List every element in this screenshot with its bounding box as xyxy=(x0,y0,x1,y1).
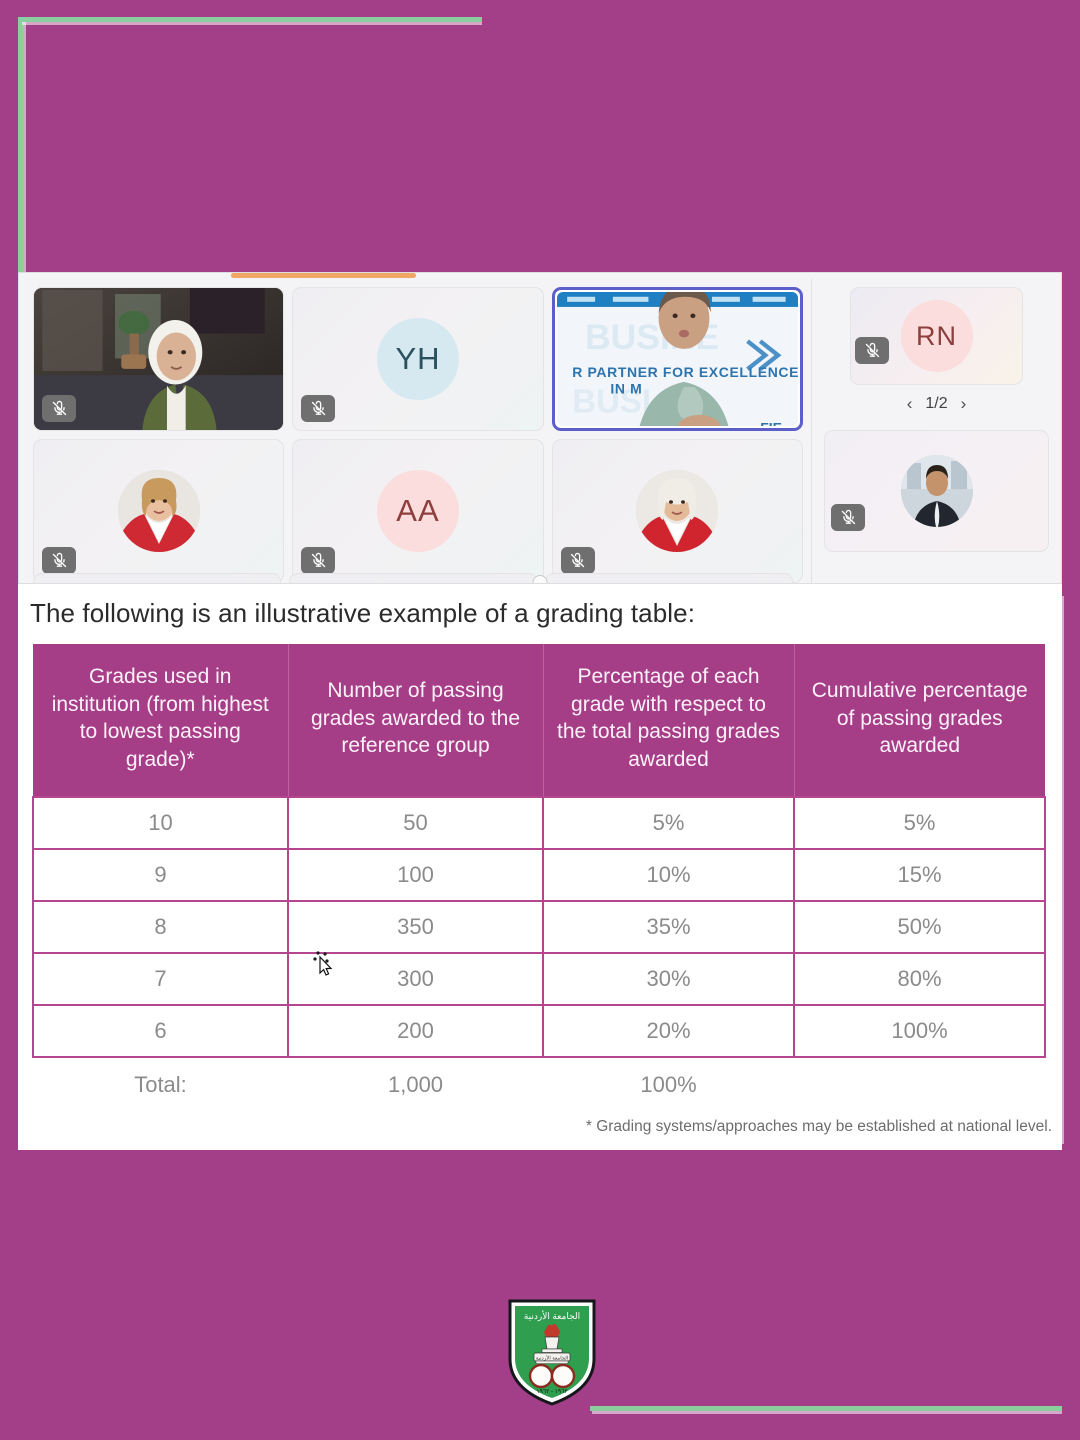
table-row: 7 300 30% 80% xyxy=(33,953,1045,1005)
cell-percentage: 30% xyxy=(543,953,794,1005)
video-conference-panel[interactable]: YH xyxy=(18,272,1062,584)
panel-resize-handle[interactable] xyxy=(533,575,548,584)
participant-tile-partial-3[interactable] xyxy=(545,573,793,584)
participant-grid: YH xyxy=(19,279,809,584)
grading-table: Grades used in institution (from highest… xyxy=(32,644,1046,1110)
cell-grade: 6 xyxy=(33,1005,288,1057)
table-row: 10 50 5% 5% xyxy=(33,797,1045,849)
chevron-right-icon[interactable]: › xyxy=(961,394,967,414)
cell-percentage: 10% xyxy=(543,849,794,901)
cell-cumulative: 80% xyxy=(794,953,1045,1005)
mic-muted-icon[interactable] xyxy=(561,547,595,574)
participant-tile-partial-1[interactable] xyxy=(33,573,281,584)
table-total-row: Total: 1,000 100% xyxy=(33,1057,1045,1110)
table-row: 6 200 20% 100% xyxy=(33,1005,1045,1057)
svg-text:IN M: IN M xyxy=(610,380,642,396)
document-footnote: * Grading systems/approaches may be esta… xyxy=(586,1118,1052,1136)
participant-tile-1[interactable] xyxy=(33,287,284,431)
mic-muted-icon[interactable] xyxy=(301,547,335,574)
cell-grade: 7 xyxy=(33,953,288,1005)
table-row: 9 100 10% 15% xyxy=(33,849,1045,901)
svg-text:الجامعة الأردنية: الجامعة الأردنية xyxy=(524,1310,580,1322)
participant-tile-4[interactable] xyxy=(33,439,284,583)
cell-cumulative: 5% xyxy=(794,797,1045,849)
cell-grade: 8 xyxy=(33,901,288,953)
participant-tile-6[interactable] xyxy=(552,439,803,583)
cell-grade: 10 xyxy=(33,797,288,849)
mic-muted-icon[interactable] xyxy=(42,395,76,422)
cell-percentage: 20% xyxy=(543,1005,794,1057)
cell-grade: 9 xyxy=(33,849,288,901)
participant-pagination[interactable]: ‹ 1/2 › xyxy=(824,394,1049,414)
participant-tile-3[interactable]: BUSINE BUSI R PARTNER FOR EXCELLENCE IN … xyxy=(552,287,803,431)
cell-cumulative: 15% xyxy=(794,849,1045,901)
participant-row-partial xyxy=(33,573,793,584)
cell-count: 200 xyxy=(288,1005,543,1057)
avatar: AA xyxy=(377,470,459,552)
chevron-left-icon[interactable]: ‹ xyxy=(907,394,913,414)
column-header-count: Number of passing grades awarded to the … xyxy=(288,644,543,797)
side-participant-tile-rn[interactable]: RN xyxy=(850,287,1023,385)
cell-cumulative: 100% xyxy=(794,1005,1045,1057)
svg-text:الجامعة الأردنية: الجامعة الأردنية xyxy=(536,1354,568,1362)
cell-cumulative: 50% xyxy=(794,901,1045,953)
svg-text:١٩٦٢ - ١٩٦٢: ١٩٦٢ - ١٩٦٢ xyxy=(536,1389,567,1395)
cell-count: 350 xyxy=(288,901,543,953)
cell-count: 100 xyxy=(288,849,543,901)
active-speaker-strip xyxy=(231,273,416,278)
cell-percentage: 5% xyxy=(543,797,794,849)
total-blank xyxy=(794,1057,1045,1110)
mic-muted-icon[interactable] xyxy=(831,504,865,531)
cell-count: 300 xyxy=(288,953,543,1005)
university-of-jordan-logo: الجامعة الأردنية الجامعة الأردنية ١٩٦٢ -… xyxy=(506,1297,598,1407)
avatar xyxy=(636,470,718,552)
mic-muted-icon[interactable] xyxy=(42,547,76,574)
column-header-grades: Grades used in institution (from highest… xyxy=(33,644,288,797)
frame-shadow-bottom xyxy=(592,1411,1062,1414)
total-count: 1,000 xyxy=(288,1057,543,1110)
total-percentage: 100% xyxy=(543,1057,794,1110)
column-header-cumulative: Cumulative percentage of passing grades … xyxy=(794,644,1045,797)
frame-shadow-top xyxy=(22,22,482,25)
page-indicator: 1/2 xyxy=(925,395,947,413)
table-row: 8 350 35% 50% xyxy=(33,901,1045,953)
avatar xyxy=(118,470,200,552)
mic-muted-icon[interactable] xyxy=(855,337,889,364)
document-heading: The following is an illustrative example… xyxy=(30,598,695,629)
column-header-percentage: Percentage of each grade with respect to… xyxy=(543,644,794,797)
mic-muted-icon[interactable] xyxy=(301,395,335,422)
shared-document-area: The following is an illustrative example… xyxy=(18,584,1062,1150)
participant-tile-partial-2[interactable] xyxy=(289,573,537,584)
cell-percentage: 35% xyxy=(543,901,794,953)
avatar: YH xyxy=(377,318,459,400)
side-participant-tile-2[interactable] xyxy=(824,430,1049,552)
table-header-row: Grades used in institution (from highest… xyxy=(33,644,1045,797)
participant-tile-2[interactable]: YH xyxy=(292,287,543,431)
avatar xyxy=(901,455,973,527)
total-label: Total: xyxy=(33,1057,288,1110)
avatar: RN xyxy=(901,300,973,372)
svg-text:FIE: FIE xyxy=(760,420,782,426)
overflow-participants-column: RN ‹ 1/2 › xyxy=(811,279,1061,584)
participant-tile-5[interactable]: AA xyxy=(292,439,543,583)
table-body: 10 50 5% 5% 9 100 10% 15% 8 350 35% 50% … xyxy=(33,797,1045,1110)
cell-count: 50 xyxy=(288,797,543,849)
